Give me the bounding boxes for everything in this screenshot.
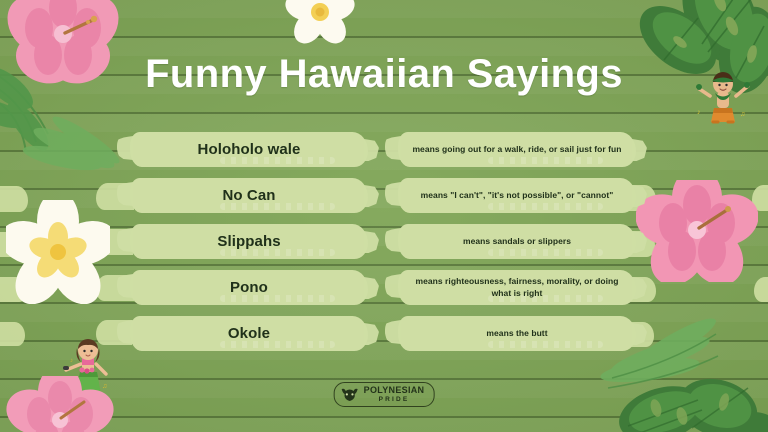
page-title: Funny Hawaiian Sayings — [0, 54, 768, 94]
brush-texture — [220, 295, 334, 302]
term-label: Pono — [230, 279, 268, 296]
term-label: Holoholo wale — [198, 141, 301, 158]
term-label: Okole — [228, 325, 270, 342]
term-label: Slippahs — [217, 233, 280, 250]
saying-row: Slippahs means sandals or slippers — [0, 220, 768, 263]
saying-row: No Can means "I can't", "it's not possib… — [0, 174, 768, 217]
definition-label: means sandals or slippers — [451, 236, 583, 247]
brush-texture — [220, 157, 334, 164]
brush-texture — [488, 249, 602, 256]
brush-texture — [220, 249, 334, 256]
brush-texture — [488, 341, 602, 348]
poster-canvas: ♪ ♫ — [0, 0, 768, 432]
logo-line-1: POLYNESIAN — [364, 386, 425, 395]
definition-cell[interactable]: means "I can't", "it's not possible", or… — [398, 174, 636, 217]
logo-wordmark: POLYNESIAN PRIDE — [364, 386, 425, 403]
sayings-list: Holoholo wale means going out for a walk… — [0, 128, 768, 358]
term-label: No Can — [222, 187, 275, 204]
saying-row: Pono means righteousness, fairness, mora… — [0, 266, 768, 309]
brush-texture — [488, 203, 602, 210]
term-cell[interactable]: Okole — [130, 312, 368, 355]
definition-label: means going out for a walk, ride, or sai… — [400, 144, 633, 155]
term-cell[interactable]: Slippahs — [130, 220, 368, 263]
definition-label: means the butt — [474, 328, 559, 339]
term-cell[interactable]: Holoholo wale — [130, 128, 368, 171]
definition-cell[interactable]: means sandals or slippers — [398, 220, 636, 263]
term-cell[interactable]: No Can — [130, 174, 368, 217]
definition-cell[interactable]: means going out for a walk, ride, or sai… — [398, 128, 636, 171]
definition-cell[interactable]: means the butt — [398, 312, 636, 355]
definition-cell[interactable]: means righteousness, fairness, morality,… — [398, 266, 636, 309]
brush-texture — [488, 157, 602, 164]
brush-texture — [220, 341, 334, 348]
definition-label: means "I can't", "it's not possible", or… — [409, 190, 626, 201]
term-cell[interactable]: Pono — [130, 266, 368, 309]
logo-line-2: PRIDE — [379, 397, 410, 404]
saying-row: Okole means the butt — [0, 312, 768, 355]
brush-texture — [220, 203, 334, 210]
tiki-mask-icon — [340, 387, 360, 403]
definition-label: means righteousness, fairness, morality,… — [398, 276, 636, 298]
saying-row: Holoholo wale means going out for a walk… — [0, 128, 768, 171]
polynesian-pride-logo[interactable]: POLYNESIAN PRIDE — [334, 382, 435, 407]
